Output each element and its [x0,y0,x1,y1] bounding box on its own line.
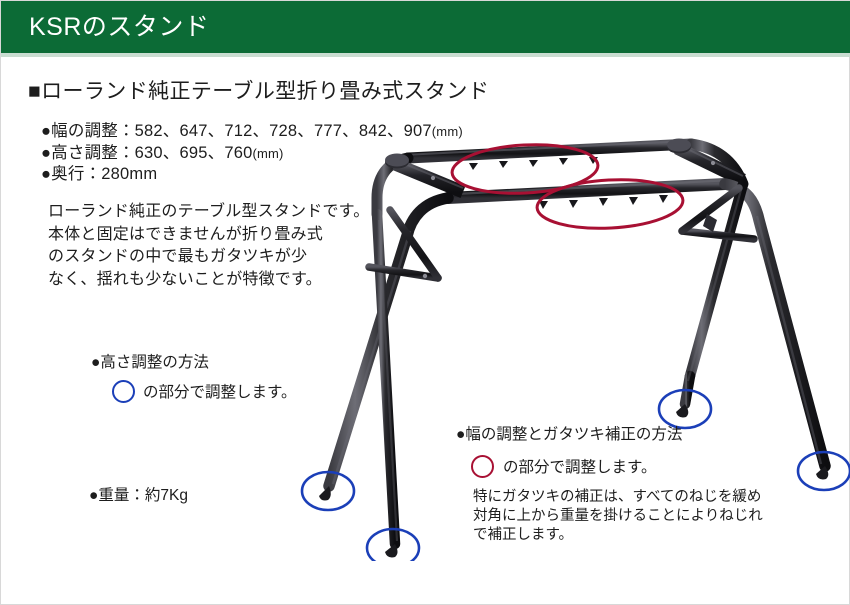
width-adjust-detail-line-1: 特にガタツキの補正は、すべてのねじを緩め [473,488,763,507]
legend-marker-red-circle-icon [471,455,494,478]
section-heading: ■ローランド純正テーブル型折り畳み式スタンド [28,79,489,105]
page-title: KSRのスタンド [29,12,209,42]
stand-leg-front-right [725,184,828,479]
height-adjust-title: ●高さ調整の方法 [91,352,209,373]
header-underline [1,53,850,57]
legend-marker-blue-circle-icon [112,380,135,403]
width-adjust-detail-line-2: 対角に上から重量を掛けることによりねじれ [473,507,763,526]
width-adjust-detail: 特にガタツキの補正は、すべてのねじを緩め 対角に上から重量を掛けることによりねじ… [473,488,763,545]
width-adjust-title: ●幅の調整とガタツキ補正の方法 [456,424,682,445]
width-adjust-detail-line-3: で補正します。 [473,526,763,545]
width-adjust-instruction: の部分で調整します。 [503,457,656,478]
height-adjust-instruction: の部分で調整します。 [143,382,296,403]
spec-height-label: ●高さ調整：630、695、760 [41,144,252,162]
weight-label: ●重量：約7Kg [89,485,188,506]
